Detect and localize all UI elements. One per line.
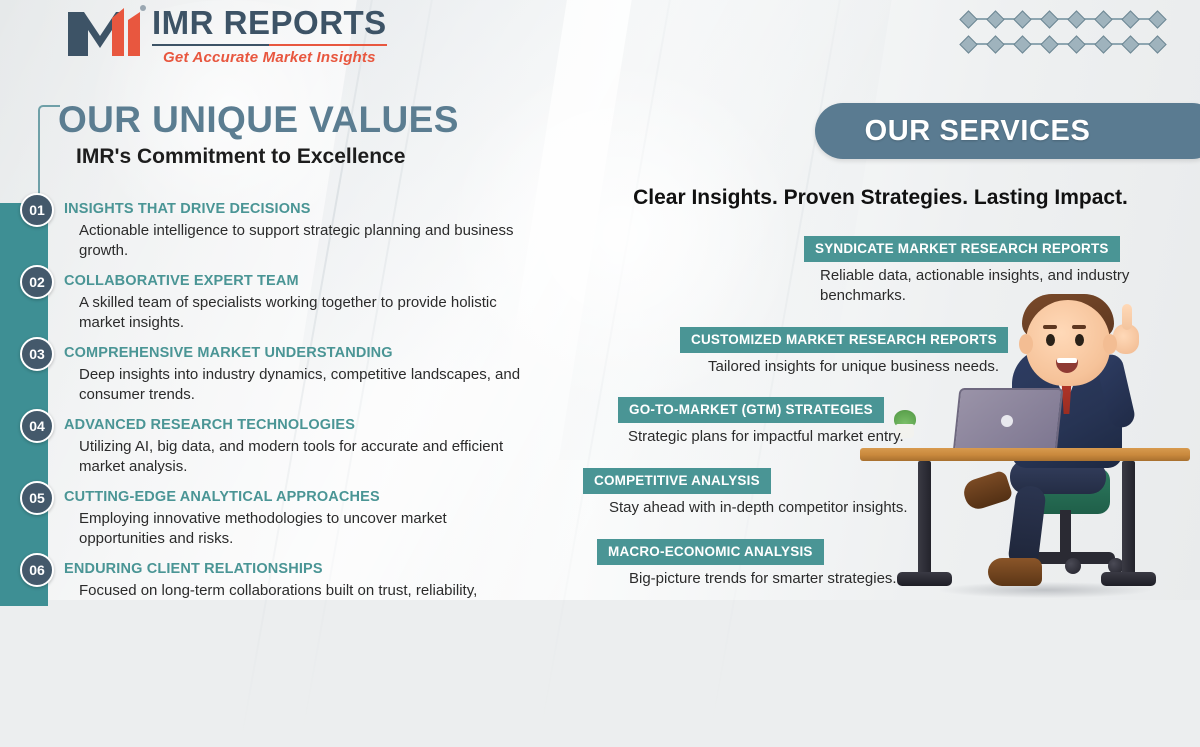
imr-m-monogram-icon — [62, 2, 148, 58]
value-body: Employing innovative methodologies to un… — [64, 509, 534, 549]
value-body: Actionable intelligence to support strat… — [64, 221, 534, 261]
value-heading: COMPREHENSIVE MARKET UNDERSTANDING — [64, 337, 575, 362]
brand-name: IMR REPORTS — [152, 6, 387, 39]
service-label: MACRO-ECONOMIC ANALYSIS — [597, 539, 824, 565]
service-item[interactable]: SYNDICATE MARKET RESEARCH REPORTS Reliab… — [575, 236, 1200, 306]
value-item[interactable]: 04 ADVANCED RESEARCH TECHNOLOGIES Utiliz… — [0, 409, 575, 481]
value-item[interactable]: 02 COLLABORATIVE EXPERT TEAM A skilled t… — [0, 265, 575, 337]
value-number-badge: 02 — [20, 265, 54, 299]
value-heading: INSIGHTS THAT DRIVE DECISIONS — [64, 193, 575, 218]
values-list: 01 INSIGHTS THAT DRIVE DECISIONS Actiona… — [0, 193, 575, 625]
value-item[interactable]: 05 CUTTING-EDGE ANALYTICAL APPROACHES Em… — [0, 481, 575, 553]
value-number-badge: 06 — [20, 553, 54, 587]
value-item[interactable]: 06 ENDURING CLIENT RELATIONSHIPS Focused… — [0, 553, 575, 625]
service-description: Strategic plans for impactful market ent… — [618, 427, 1200, 447]
value-body: Deep insights into industry dynamics, co… — [64, 365, 534, 405]
service-item[interactable]: CUSTOMIZED MARKET RESEARCH REPORTS Tailo… — [575, 327, 1200, 377]
services-title-banner: OUR SERVICES — [815, 103, 1200, 159]
value-body: Focused on long-term collaborations buil… — [64, 581, 534, 601]
brand-logo[interactable]: IMR REPORTS Get Accurate Market Insights — [62, 2, 387, 66]
value-body: A skilled team of specialists working to… — [64, 293, 534, 333]
services-tagline: Clear Insights. Proven Strategies. Lasti… — [575, 186, 1186, 210]
services-panel: OUR SERVICES Clear Insights. Proven Stra… — [575, 0, 1200, 600]
value-item[interactable]: 01 INSIGHTS THAT DRIVE DECISIONS Actiona… — [0, 193, 575, 265]
value-item[interactable]: 03 COMPREHENSIVE MARKET UNDERSTANDING De… — [0, 337, 575, 409]
brand-wordmark: IMR REPORTS Get Accurate Market Insights — [152, 2, 387, 66]
services-list: SYNDICATE MARKET RESEARCH REPORTS Reliab… — [575, 236, 1200, 610]
service-description: Tailored insights for unique business ne… — [680, 357, 1200, 377]
service-description: Stay ahead with in-depth competitor insi… — [583, 498, 1200, 518]
service-label: CUSTOMIZED MARKET RESEARCH REPORTS — [680, 327, 1008, 353]
service-label: GO-TO-MARKET (GTM) STRATEGIES — [618, 397, 884, 423]
service-label: COMPETITIVE ANALYSIS — [583, 468, 771, 494]
brand-tagline: Get Accurate Market Insights — [152, 49, 387, 66]
service-description: Big-picture trends for smarter strategie… — [597, 569, 1200, 589]
service-item[interactable]: MACRO-ECONOMIC ANALYSIS Big-picture tren… — [575, 539, 1200, 589]
values-panel: OUR UNIQUE VALUES IMR's Commitment to Ex… — [0, 95, 575, 600]
value-body: Utilizing AI, big data, and modern tools… — [64, 437, 534, 477]
value-heading: CUTTING-EDGE ANALYTICAL APPROACHES — [64, 481, 575, 506]
value-number-badge: 03 — [20, 337, 54, 371]
services-title: OUR SERVICES — [865, 115, 1171, 148]
service-description: Reliable data, actionable insights, and … — [804, 266, 1164, 306]
values-title: OUR UNIQUE VALUES — [58, 101, 459, 140]
value-number-badge: 04 — [20, 409, 54, 443]
value-heading: COLLABORATIVE EXPERT TEAM — [64, 265, 575, 290]
brand-rule — [152, 44, 387, 46]
value-number-badge: 01 — [20, 193, 54, 227]
service-item[interactable]: COMPETITIVE ANALYSIS Stay ahead with in-… — [575, 468, 1200, 518]
values-subtitle: IMR's Commitment to Excellence — [76, 145, 405, 169]
value-heading: ADVANCED RESEARCH TECHNOLOGIES — [64, 409, 575, 434]
value-number-badge: 05 — [20, 481, 54, 515]
value-heading: ENDURING CLIENT RELATIONSHIPS — [64, 553, 575, 578]
service-item[interactable]: GO-TO-MARKET (GTM) STRATEGIES Strategic … — [575, 397, 1200, 447]
service-label: SYNDICATE MARKET RESEARCH REPORTS — [804, 236, 1120, 262]
